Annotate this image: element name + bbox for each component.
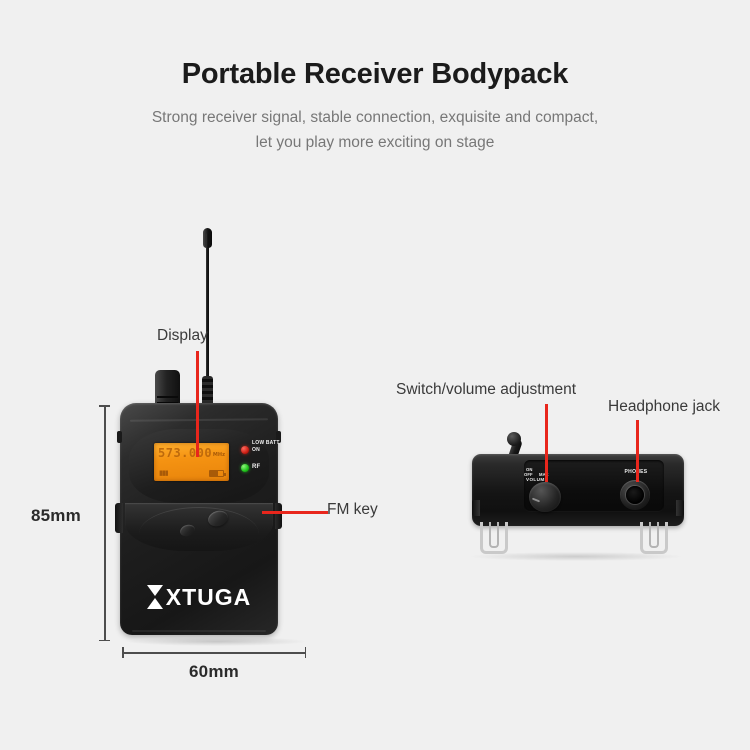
bodypack-top-view: ON OFF MAX VOLUME PHONES (466, 418, 691, 568)
chassis-bottom-edge (132, 630, 266, 632)
rf-label: RF (252, 464, 260, 470)
low-batt-led-icon (241, 446, 249, 454)
callout-label-headphone-jack: Headphone jack (608, 397, 720, 417)
low-batt-label: LOW BATT (252, 440, 280, 446)
bodypack-contour-bezel (125, 503, 273, 551)
chassis-notch-left (117, 431, 122, 443)
callout-line-headphone-jack (636, 420, 639, 482)
hourglass-bottom (147, 598, 163, 609)
xtuga-hourglass-icon (147, 585, 164, 609)
bodypack-front-view: 573.000 MHz ▮▮▮ LOW BATT ON RF (118, 228, 318, 643)
lcd-frequency-unit: MHz (213, 452, 225, 458)
page-title: Portable Receiver Bodypack (0, 55, 750, 93)
callout-line-display (196, 351, 199, 457)
callout-label-fm-key: FM key (327, 500, 378, 520)
topview-lug-left (472, 500, 480, 516)
rf-led-icon (241, 464, 249, 472)
bodypack-chassis: 573.000 MHz ▮▮▮ LOW BATT ON RF (120, 403, 278, 635)
height-dimension-line (99, 405, 110, 641)
subtitle-line-1: Strong receiver signal, stable connectio… (0, 105, 750, 130)
brand-logo: XTUGA (120, 585, 278, 609)
width-dimension-line (122, 647, 306, 658)
hourglass-top (147, 585, 163, 596)
width-dim-shaft (122, 652, 306, 654)
callout-label-display: Display (157, 326, 208, 346)
volume-knob[interactable] (529, 482, 561, 512)
chassis-clip-left (115, 503, 123, 533)
volume-knob-pointer (532, 498, 540, 503)
callout-line-switch-volume (545, 404, 548, 482)
led-row-low-batt: LOW BATT ON (241, 443, 289, 461)
belt-clip-inner-left (489, 522, 499, 548)
phones-jack-socket[interactable] (626, 486, 644, 504)
width-dim-cap-right (305, 647, 307, 658)
page-subtitle: Strong receiver signal, stable connectio… (0, 105, 750, 155)
bodypack-face-plate: 573.000 MHz ▮▮▮ LOW BATT ON RF (129, 429, 269, 503)
width-dimension-label: 60mm (122, 662, 306, 682)
lcd-battery-icon (209, 470, 224, 477)
top-knob-ridge-2 (157, 396, 178, 398)
height-dim-cap-bottom (99, 640, 110, 642)
belt-clip-inner-right (649, 522, 659, 548)
chassis-clip-right (275, 503, 282, 529)
on-label: ON (252, 447, 260, 453)
led-row-rf: RF (241, 461, 289, 479)
infographic-canvas: Portable Receiver Bodypack Strong receiv… (0, 0, 750, 750)
header: Portable Receiver Bodypack Strong receiv… (0, 55, 750, 155)
topview-lug-right (676, 500, 684, 516)
lcd-frequency-value: 573.000 (158, 446, 212, 460)
height-dimension-label: 85mm (31, 506, 81, 526)
led-indicator-group: LOW BATT ON RF (241, 443, 289, 479)
lcd-signal-bars-icon: ▮▮▮ (159, 469, 168, 477)
topview-chassis (472, 454, 684, 526)
lcd-display: 573.000 MHz ▮▮▮ (154, 443, 229, 481)
antenna-rod-icon (206, 233, 209, 385)
callout-line-fm-key (262, 511, 328, 514)
folded-antenna-tip-icon (507, 432, 521, 446)
chassis-seam (130, 418, 268, 421)
brand-name: XTUGA (166, 585, 252, 609)
subtitle-line-2: let you play more exciting on stage (0, 130, 750, 155)
callout-label-switch-volume: Switch/volume adjustment (396, 380, 576, 400)
height-dim-shaft (104, 405, 106, 641)
